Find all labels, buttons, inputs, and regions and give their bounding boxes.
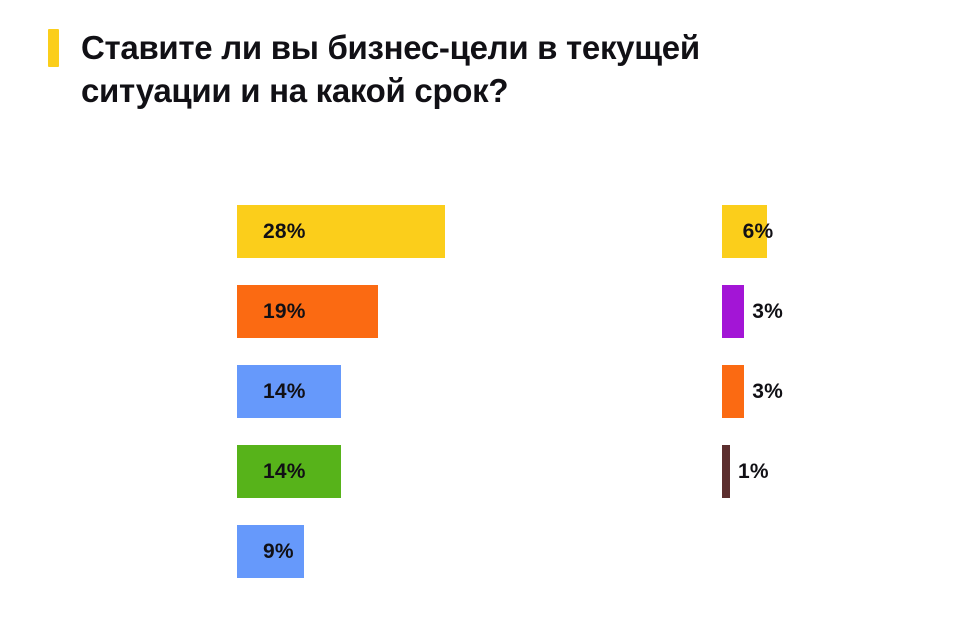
bar-value-label: 9% [263, 525, 294, 578]
bar-track: 19% [237, 285, 498, 338]
bar-track: 1% [722, 445, 850, 498]
bar-fill [237, 285, 378, 338]
bar-value-label: 6% [743, 205, 774, 258]
bar-track: 14% [237, 445, 461, 498]
bar-value-label: 14% [263, 445, 306, 498]
bar-track: 6% [722, 205, 887, 258]
bar-value-label: 14% [263, 365, 306, 418]
bar-track: 9% [237, 525, 424, 578]
bar-track: 3% [722, 285, 864, 338]
bar-fill [722, 365, 744, 418]
bar-value-label: 1% [738, 445, 769, 498]
bar-fill [722, 285, 744, 338]
bar-track: 3% [722, 365, 864, 418]
bar-value-label: 28% [263, 205, 306, 258]
bar-track: 28% [237, 205, 565, 258]
bar-value-label: 3% [752, 365, 783, 418]
bar-value-label: 3% [752, 285, 783, 338]
bar-value-label: 19% [263, 285, 306, 338]
bar-chart: Да, на 1 год28%Да, на 1 месяц19%Да, на 6… [0, 0, 957, 617]
bar-track: 14% [237, 365, 461, 418]
bar-fill [722, 445, 730, 498]
